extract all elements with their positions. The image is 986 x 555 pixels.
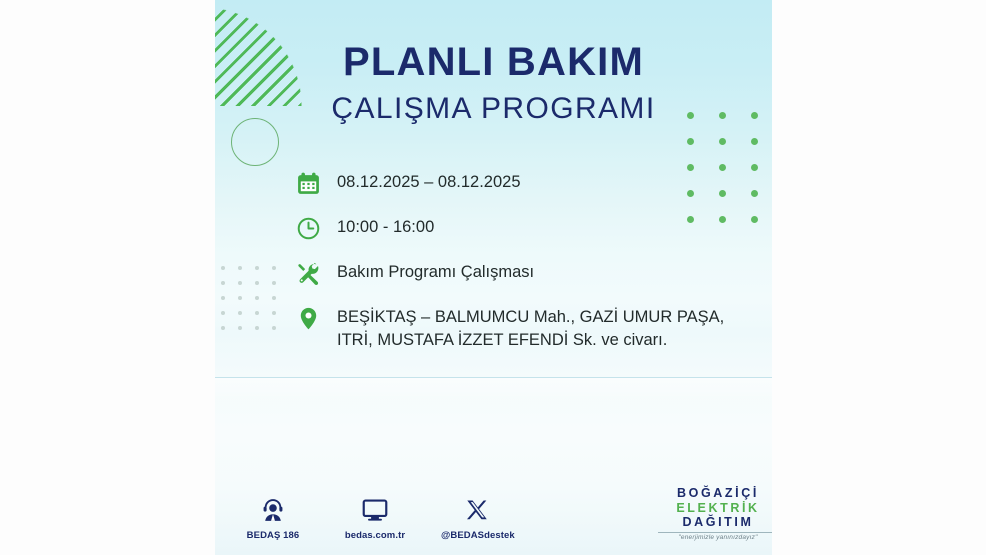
page-subtitle: ÇALIŞMA PROGRAMI (215, 94, 772, 124)
tools-icon (293, 258, 323, 288)
screenshot-root: PLANLI BAKIM ÇALIŞMA PROGRAMI (0, 0, 986, 555)
address-text: BEŞİKTAŞ – BALMUMCU Mah., GAZİ UMUR PAŞA… (337, 303, 763, 353)
logo-tagline: "enerjimizle yanınızdayız" (658, 532, 772, 541)
info-row-time: 10:00 - 16:00 (293, 213, 763, 243)
support-agent-icon (237, 493, 309, 523)
calendar-icon (293, 168, 323, 198)
poster-footer: BEDAŞ 186 bedas.com.tr (215, 481, 772, 543)
contact-website-label: bedas.com.tr (339, 530, 411, 541)
info-row-location: BEŞİKTAŞ – BALMUMCU Mah., GAZİ UMUR PAŞA… (293, 303, 763, 353)
contact-x-label: @BEDASdestek (441, 530, 513, 541)
logo-line-2: ELEKTRİK (658, 501, 772, 516)
logo-line-3: DAĞITIM (658, 515, 772, 530)
circle-outline-decoration (231, 118, 279, 166)
info-row-work-type: Bakım Programı Çalışması (293, 258, 763, 288)
info-list: 08.12.2025 – 08.12.2025 10:00 - 16:00 (293, 168, 763, 353)
date-range-text: 08.12.2025 – 08.12.2025 (337, 168, 521, 193)
company-logo: BOĞAZİÇİ ELEKTRİK DAĞITIM "enerjimizle y… (658, 486, 772, 541)
contact-x-social[interactable]: @BEDASdestek (441, 493, 513, 541)
info-row-date: 08.12.2025 – 08.12.2025 (293, 168, 763, 198)
contact-phone[interactable]: BEDAŞ 186 (237, 493, 309, 541)
contact-list: BEDAŞ 186 bedas.com.tr (237, 493, 513, 541)
location-pin-icon (293, 303, 323, 333)
work-type-text: Bakım Programı Çalışması (337, 258, 534, 283)
logo-line-1: BOĞAZİÇİ (658, 486, 772, 501)
time-range-text: 10:00 - 16:00 (337, 213, 434, 238)
background-band (215, 378, 772, 404)
dot-grid-left-decoration (221, 266, 289, 341)
contact-phone-label: BEDAŞ 186 (237, 530, 309, 541)
poster-heading: PLANLI BAKIM ÇALIŞMA PROGRAMI (215, 42, 772, 124)
contact-website[interactable]: bedas.com.tr (339, 493, 411, 541)
monitor-icon (339, 493, 411, 523)
x-social-icon (441, 493, 513, 523)
clock-icon (293, 213, 323, 243)
page-title: PLANLI BAKIM (215, 42, 772, 82)
maintenance-notice-poster: PLANLI BAKIM ÇALIŞMA PROGRAMI (215, 0, 772, 555)
